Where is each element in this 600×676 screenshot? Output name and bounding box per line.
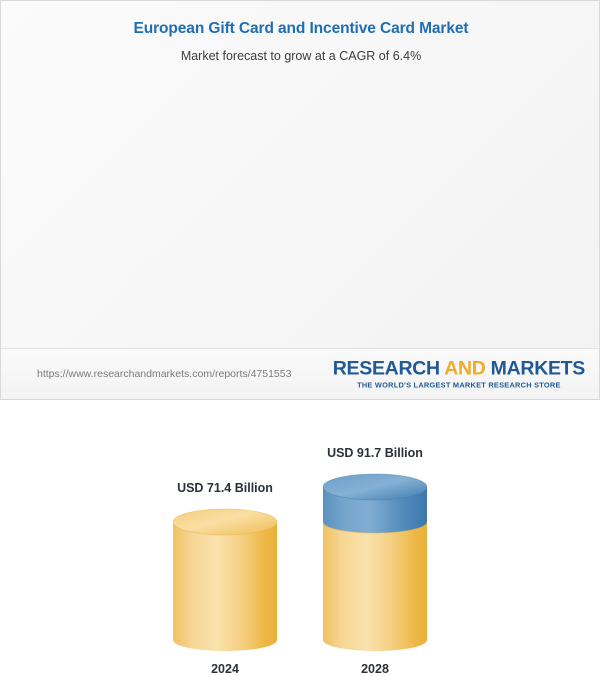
cylinder-2024: [173, 507, 277, 651]
brand-tagline: THE WORLD'S LARGEST MARKET RESEARCH STOR…: [333, 381, 585, 390]
market-infographic: European Gift Card and Incentive Card Ma…: [0, 0, 600, 400]
bar-value-label-2024: USD 71.4 Billion: [177, 481, 273, 495]
brand-wordmark: RESEARCH AND MARKETS: [333, 359, 585, 380]
footer-bar: https://www.researchandmarkets.com/repor…: [1, 348, 599, 399]
research-and-markets-logo[interactable]: RESEARCH AND MARKETS THE WORLD'S LARGEST…: [333, 359, 585, 390]
brand-word-and: AND: [444, 358, 485, 380]
chart-plot-area: USD 71.4 Billion: [1, 1, 600, 349]
bar-value-label-2028: USD 91.7 Billion: [327, 446, 423, 460]
cylinder-2028: [323, 472, 427, 651]
bar-category-label-2028: 2028: [361, 662, 389, 676]
source-url[interactable]: https://www.researchandmarkets.com/repor…: [37, 368, 291, 380]
bar-category-label-2024: 2024: [211, 662, 239, 676]
brand-word-markets: MARKETS: [486, 358, 585, 380]
brand-word-research: RESEARCH: [333, 358, 444, 380]
